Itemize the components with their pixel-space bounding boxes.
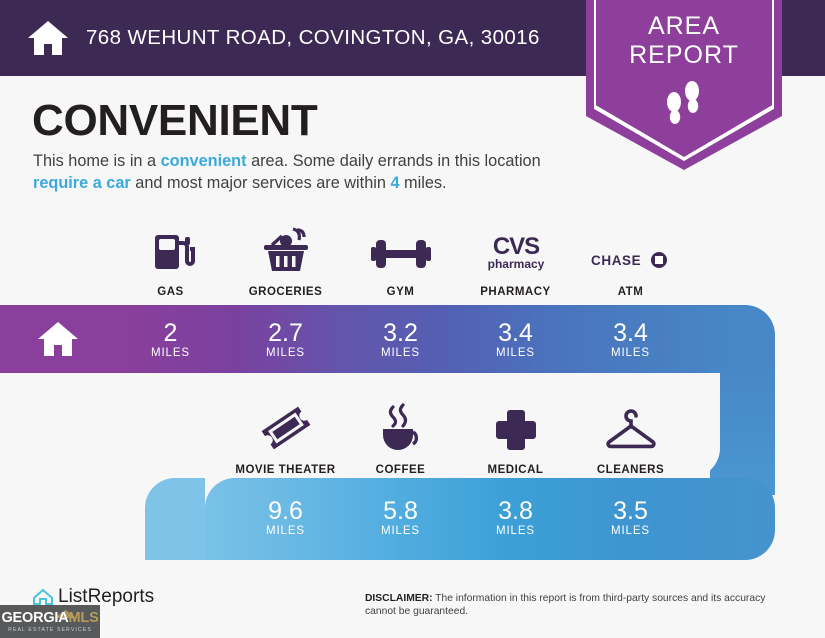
distance-gas-unit: MILES: [151, 347, 190, 359]
category-cleaners-label: CLEANERS: [597, 464, 664, 476]
distance-movie-theater-value: 9.6: [268, 498, 303, 524]
distance-groceries-value: 2.7: [268, 320, 303, 346]
chase-logo: CHASE: [589, 225, 673, 275]
footprints-icon: [658, 80, 710, 126]
svg-text:pharmacy: pharmacy: [487, 257, 544, 271]
category-gas-label: GAS: [157, 286, 183, 298]
svg-text:CHASE: CHASE: [591, 253, 641, 268]
distance-gym: 3.2 MILES: [343, 305, 458, 373]
medical-cross-icon: [493, 403, 539, 453]
category-pharmacy: CVS pharmacy PHARMACY: [458, 212, 573, 298]
distance-atm-unit: MILES: [611, 347, 650, 359]
blurb-highlight-convenient: convenient: [161, 152, 247, 170]
mls-mls-text: MLS: [69, 610, 99, 626]
distance-medical-value: 3.8: [498, 498, 533, 524]
category-medical-label: MEDICAL: [488, 464, 544, 476]
area-report-badge: AREA REPORT: [586, 0, 782, 170]
blurb-part-3: and most major services are within: [131, 174, 391, 192]
distance-gas-value: 2: [164, 320, 178, 346]
georgia-mls-logo: GEORGIAMLS REAL ESTATE SERVICES: [0, 605, 100, 638]
distance-medical-unit: MILES: [496, 525, 535, 537]
blurb-part-1: This home is in a: [33, 152, 161, 170]
blurb-part-2: area. Some daily errands in this locatio…: [247, 152, 541, 170]
distance-gym-unit: MILES: [381, 347, 420, 359]
distance-gas: 2 MILES: [113, 305, 228, 373]
distance-pharmacy: 3.4 MILES: [458, 305, 573, 373]
distance-groceries-unit: MILES: [266, 347, 305, 359]
cvs-logo: CVS pharmacy: [481, 225, 551, 275]
badge-title-line1: AREA: [629, 12, 739, 41]
badge-fill: AREA REPORT: [596, 0, 772, 157]
badge-title: AREA REPORT: [629, 12, 739, 70]
category-groceries-label: GROCERIES: [249, 286, 323, 298]
category-coffee: COFFEE: [343, 390, 458, 476]
disclaimer: DISCLAIMER: The information in this repo…: [365, 592, 790, 618]
blurb-part-4: miles.: [400, 174, 447, 192]
distance-cleaners-unit: MILES: [611, 525, 650, 537]
category-movie-theater-label: MOVIE THEATER: [235, 464, 335, 476]
category-groceries: GROCERIES: [228, 212, 343, 298]
row1-distance-bar: 2 MILES 2.7 MILES 3.2 MILES 3.4 MILES 3.…: [0, 305, 825, 373]
row2-icons: MOVIE THEATER COFFEE MEDICAL: [0, 390, 825, 476]
movie-ticket-icon: [260, 403, 312, 453]
distance-cleaners-value: 3.5: [613, 498, 648, 524]
distance-atm-value: 3.4: [613, 320, 648, 346]
home-cell: [0, 305, 115, 373]
georgia-mls-wordmark: GEORGIAMLS: [1, 611, 98, 626]
page-title: CONVENIENT: [32, 96, 317, 146]
blurb-highlight-require-a-car: require a car: [33, 174, 131, 192]
mls-georgia-text: GEORGIA: [1, 610, 68, 626]
distance-medical: 3.8 MILES: [458, 483, 573, 551]
category-cleaners: CLEANERS: [573, 390, 688, 476]
row1-icons: GAS GROCERIES: [0, 212, 825, 298]
distance-coffee: 5.8 MILES: [343, 483, 458, 551]
distance-groceries: 2.7 MILES: [228, 305, 343, 373]
row2-distance-bar: 9.6 MILES 5.8 MILES 3.8 MILES 3.5 MILES: [0, 483, 825, 551]
disclaimer-label: DISCLAIMER:: [365, 593, 433, 604]
mls-subtitle: REAL ESTATE SERVICES: [8, 627, 92, 633]
home-icon: [26, 18, 70, 58]
blurb-highlight-miles: 4: [390, 174, 399, 192]
distance-movie-theater-unit: MILES: [266, 525, 305, 537]
distance-atm: 3.4 MILES: [573, 305, 688, 373]
category-gas: GAS: [113, 212, 228, 298]
area-report-page: 768 WEHUNT ROAD, COVINGTON, GA, 30016 AR…: [0, 0, 825, 638]
gas-pump-icon: [147, 225, 195, 275]
svg-text:CVS: CVS: [492, 233, 539, 260]
distance-pharmacy-value: 3.4: [498, 320, 533, 346]
hanger-icon: [601, 403, 661, 453]
distance-coffee-unit: MILES: [381, 525, 420, 537]
distance-pharmacy-unit: MILES: [496, 347, 535, 359]
category-gym-label: GYM: [387, 286, 415, 298]
category-pharmacy-label: PHARMACY: [480, 286, 550, 298]
basket-icon: [260, 225, 312, 275]
distance-movie-theater: 9.6 MILES: [228, 483, 343, 551]
property-address: 768 WEHUNT ROAD, COVINGTON, GA, 30016: [86, 26, 540, 50]
category-coffee-label: COFFEE: [376, 464, 426, 476]
summary-text: This home is in a convenient area. Some …: [33, 150, 573, 194]
distance-gym-value: 3.2: [383, 320, 418, 346]
category-gym: GYM: [343, 212, 458, 298]
home-icon: [36, 319, 80, 359]
badge-title-line2: REPORT: [629, 41, 739, 70]
category-medical: MEDICAL: [458, 390, 573, 476]
coffee-cup-icon: [375, 403, 427, 453]
distance-coffee-value: 5.8: [383, 498, 418, 524]
category-atm-label: ATM: [618, 286, 644, 298]
distance-cleaners: 3.5 MILES: [573, 483, 688, 551]
dumbbell-icon: [371, 225, 431, 275]
category-atm: CHASE ATM: [573, 212, 688, 298]
category-movie-theater: MOVIE THEATER: [228, 390, 343, 476]
